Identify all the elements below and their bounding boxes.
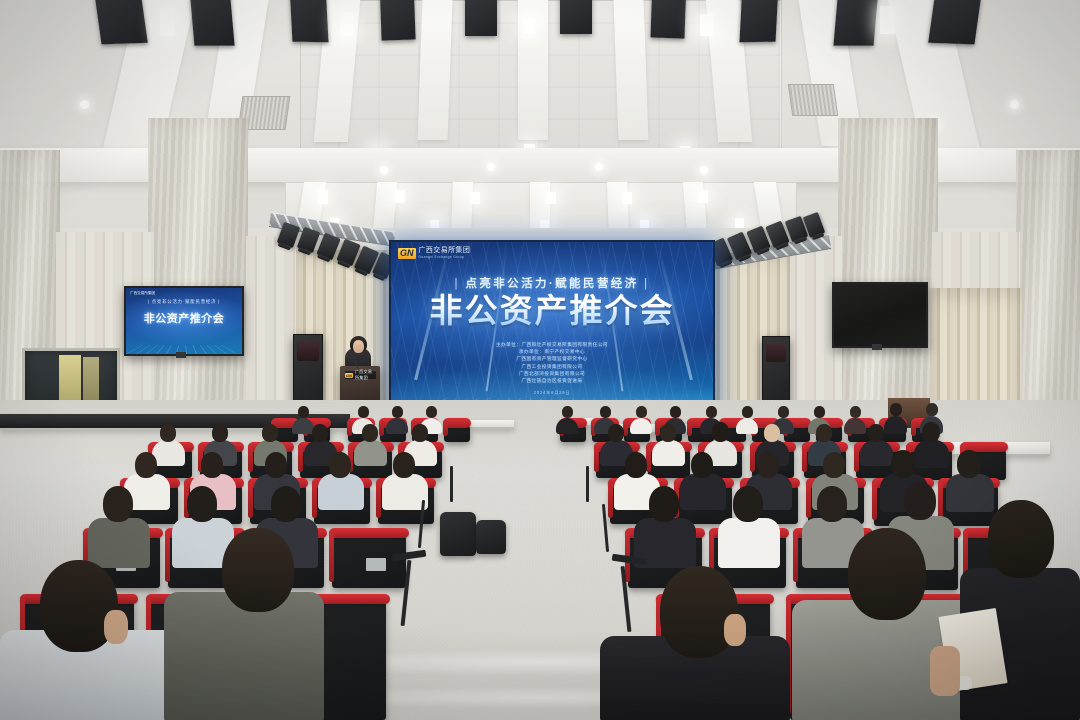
ceiling-panel-light — [160, 8, 175, 36]
attendee-torso — [292, 418, 314, 434]
attendee-torso — [318, 474, 364, 510]
attendee-head — [706, 406, 717, 418]
attendee-torso — [844, 418, 866, 434]
attendee-head — [625, 452, 647, 478]
led-logo-cn: 广西交易所集团 — [419, 247, 471, 255]
attendee-head — [926, 403, 938, 416]
attendee-head — [636, 406, 647, 418]
acoustic-baffle — [928, 0, 981, 44]
attendee-head — [265, 452, 287, 478]
led-logo-en: Guangxi Exchange Group — [419, 255, 471, 260]
attendee-head — [757, 452, 779, 478]
attendee-torso — [860, 440, 893, 466]
ceiling-panel-light — [622, 192, 632, 204]
ceiling-panel-light — [700, 14, 713, 36]
attendee-torso-foreground — [164, 592, 324, 720]
attendee-head — [562, 406, 573, 418]
attendee-head — [778, 406, 789, 418]
left-monitor-mount — [176, 352, 186, 358]
acoustic-baffle — [650, 0, 686, 39]
attendee-torso — [736, 418, 758, 434]
ceiling-panel-light — [395, 190, 405, 203]
attendee-head — [733, 486, 763, 522]
attendee-head-foreground — [988, 500, 1054, 578]
led-subtitle-bar-left: | — [454, 278, 459, 290]
attendee-head — [817, 486, 847, 522]
attendee-head — [957, 450, 981, 478]
attendee-torso — [914, 440, 949, 468]
marble-column-right — [838, 118, 938, 438]
seat-leg — [450, 466, 453, 502]
bag — [476, 520, 506, 554]
attendee-head — [426, 406, 437, 418]
attendee-hand — [930, 646, 960, 696]
acoustic-baffle — [380, 0, 416, 41]
attendee-head — [823, 452, 845, 478]
wall-panel-left-inner — [246, 236, 296, 426]
podium-logo-text: 广西交易所集团 — [355, 369, 376, 381]
ceiling-panel-light — [698, 190, 708, 203]
attendee-torso — [386, 418, 408, 434]
attendee-head — [201, 452, 223, 478]
attendee-head — [742, 406, 753, 418]
attendee-head — [891, 450, 915, 478]
podium-logo-mark: GN — [345, 373, 353, 378]
seat-number-tag — [366, 558, 386, 571]
ceiling-panel-light — [340, 12, 353, 36]
attendee-torso — [88, 518, 150, 568]
attendee-torso — [556, 418, 578, 434]
attendee-head — [358, 406, 369, 418]
ceiling-downlight — [595, 163, 603, 171]
attendee-head — [649, 486, 679, 522]
attendee-head — [890, 403, 902, 416]
marble-column-left — [148, 118, 248, 438]
conference-hall-photo: 广西交易所集团 | 点亮非公活力·赋能民营经济 | 非公资产推介会 GN 广西 — [0, 0, 1080, 720]
attendee-head-foreground — [222, 528, 294, 612]
attendee-head-bald — [764, 424, 780, 442]
attendee-head — [187, 486, 217, 522]
attendee-torso — [718, 518, 780, 568]
attendee-head — [393, 452, 415, 478]
ceiling-beam — [418, 0, 453, 140]
left-monitor-screen: 广西交易所集团 | 点亮非公活力·赋能民营经济 | 非公资产推介会 — [126, 288, 242, 354]
attendee-head — [814, 406, 825, 418]
attendee-head — [868, 424, 884, 442]
attendee-head — [362, 424, 378, 442]
ceiling-panel-light — [880, 6, 895, 34]
right-wall-monitor — [832, 282, 928, 348]
attendee-head — [160, 424, 176, 442]
attendee-head — [135, 452, 157, 478]
led-main-title: 非公资产推介会 — [391, 292, 713, 330]
attendee-head — [329, 452, 351, 478]
presenter-head — [353, 340, 364, 353]
ceiling-air-vent — [788, 84, 838, 116]
ceiling-panel-light — [318, 190, 328, 204]
led-logo-mark: GN — [398, 248, 416, 259]
attendee-head — [670, 406, 681, 418]
podium-nameplate: GN 广西交易所集团 — [345, 371, 376, 379]
backpack — [440, 512, 476, 556]
ceiling-beam — [614, 0, 649, 140]
ceiling-downlight — [380, 166, 388, 174]
ceiling-downlight — [700, 166, 708, 174]
attendee-head — [712, 422, 729, 442]
attendee-head — [298, 406, 309, 418]
acoustic-baffle — [739, 0, 778, 42]
led-brand-logo: GN 广西交易所集团 Guangxi Exchange Group — [398, 247, 470, 260]
attendee-torso — [354, 440, 387, 466]
attendee-head — [850, 406, 861, 418]
attendee-torso — [630, 418, 652, 434]
led-subtitle: | 点亮非公活力·赋能民营经济 | — [391, 275, 713, 291]
ceiling-panel-light — [470, 192, 480, 204]
attendee-head — [312, 424, 328, 442]
attendee-head — [904, 482, 936, 520]
attendee-head — [392, 406, 403, 418]
left-wall-monitor: 广西交易所集团 | 点亮非公活力·赋能民营经济 | 非公资产推介会 — [124, 286, 244, 356]
seat-leg — [586, 466, 589, 502]
attendee-torso — [946, 474, 994, 512]
attendee-torso — [680, 474, 726, 510]
acoustic-baffle — [833, 0, 878, 46]
attendee-head — [412, 424, 428, 442]
ceiling-downlight — [1010, 100, 1019, 109]
attendee-head — [103, 486, 133, 522]
left-monitor-logo: 广西交易所集团 — [130, 291, 155, 296]
left-monitor-title: 非公资产推介会 — [126, 310, 242, 326]
attendee-head — [271, 486, 301, 522]
left-monitor-subtitle: | 点亮非公活力·赋能民营经济 | — [126, 299, 242, 305]
attendee-head — [212, 424, 228, 442]
ceiling-downlight — [80, 100, 89, 109]
attendee-head — [600, 406, 611, 418]
front-table-left — [470, 420, 514, 429]
attendee-head — [922, 422, 940, 442]
ceiling-panel-light — [523, 18, 535, 34]
led-subtitle-bar-right: | — [644, 278, 649, 290]
attendee-ear — [724, 614, 746, 646]
led-organizers: 主办单位：广西和壮产权交易所集团有限责任公司 承办单位：南宁产权交易中心 广西国… — [391, 341, 713, 384]
attendee-head — [691, 452, 713, 478]
attendee-head — [262, 424, 278, 442]
attendee-head — [608, 424, 624, 442]
acoustic-baffle — [465, 0, 497, 36]
attendee-head-foreground — [848, 528, 926, 620]
led-subtitle-text: 点亮非公活力·赋能民营经济 — [465, 278, 638, 290]
attendee-torso — [152, 440, 185, 466]
acoustic-baffle — [190, 0, 235, 46]
ceiling-panel-light — [546, 192, 556, 204]
seat — [444, 424, 470, 442]
attendee-torso — [652, 440, 685, 466]
right-monitor-screen — [834, 284, 926, 346]
led-date: 2024年8月29日 — [391, 390, 713, 396]
acoustic-baffle — [95, 0, 148, 44]
attendee-head-foreground — [660, 566, 738, 658]
attendee-ear — [104, 610, 128, 644]
right-monitor-mount — [872, 344, 882, 350]
attendee-head — [660, 424, 676, 442]
attendee-head — [816, 424, 832, 442]
attendee-torso — [884, 416, 907, 434]
acoustic-baffle — [290, 0, 329, 42]
ceiling-downlight — [487, 163, 495, 171]
acoustic-baffle — [560, 0, 592, 34]
main-led-screen: GN 广西交易所集团 Guangxi Exchange Group | 点亮非公… — [389, 240, 715, 420]
